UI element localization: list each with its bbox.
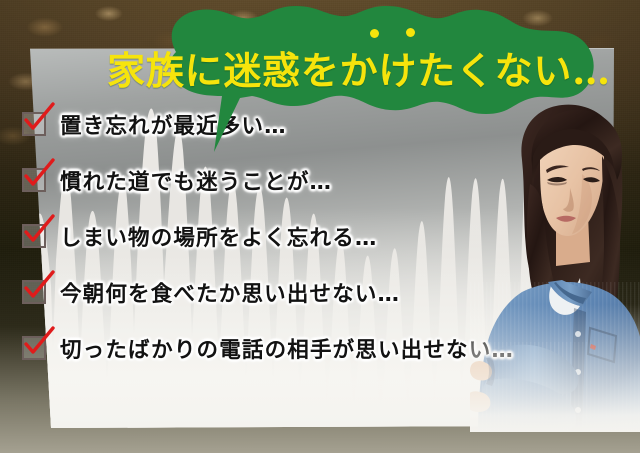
emphasis-dots	[370, 28, 440, 40]
list-item-label: 切ったばかりの電話の相手が思い出せない…	[60, 333, 514, 364]
banner-stage: 置き忘れが最近多い… 慣れた道でも迷うことが… しまい物の場所をよく忘れる…	[0, 0, 640, 453]
checkbox-checked-icon[interactable]	[22, 168, 46, 192]
checkbox-checked-icon[interactable]	[22, 224, 46, 248]
checkbox-checked-icon[interactable]	[22, 336, 46, 360]
list-item-label: しまい物の場所をよく忘れる…	[60, 221, 378, 252]
checkbox-checked-icon[interactable]	[22, 280, 46, 304]
list-item-label: 今朝何を食べたか思い出せない…	[60, 277, 400, 308]
list-item[interactable]: 今朝何を食べたか思い出せない…	[22, 264, 582, 320]
list-item[interactable]: 切ったばかりの電話の相手が思い出せない…	[22, 320, 582, 376]
list-item-label: 慣れた道でも迷うことが…	[60, 165, 332, 196]
list-item[interactable]: しまい物の場所をよく忘れる…	[22, 208, 582, 264]
list-item[interactable]: 慣れた道でも迷うことが…	[22, 152, 582, 208]
bubble-headline: 家族に迷惑をかけたくない…	[118, 4, 600, 104]
speech-bubble: 家族に迷惑をかけたくない…	[118, 4, 600, 154]
checkbox-checked-icon[interactable]	[22, 112, 46, 136]
